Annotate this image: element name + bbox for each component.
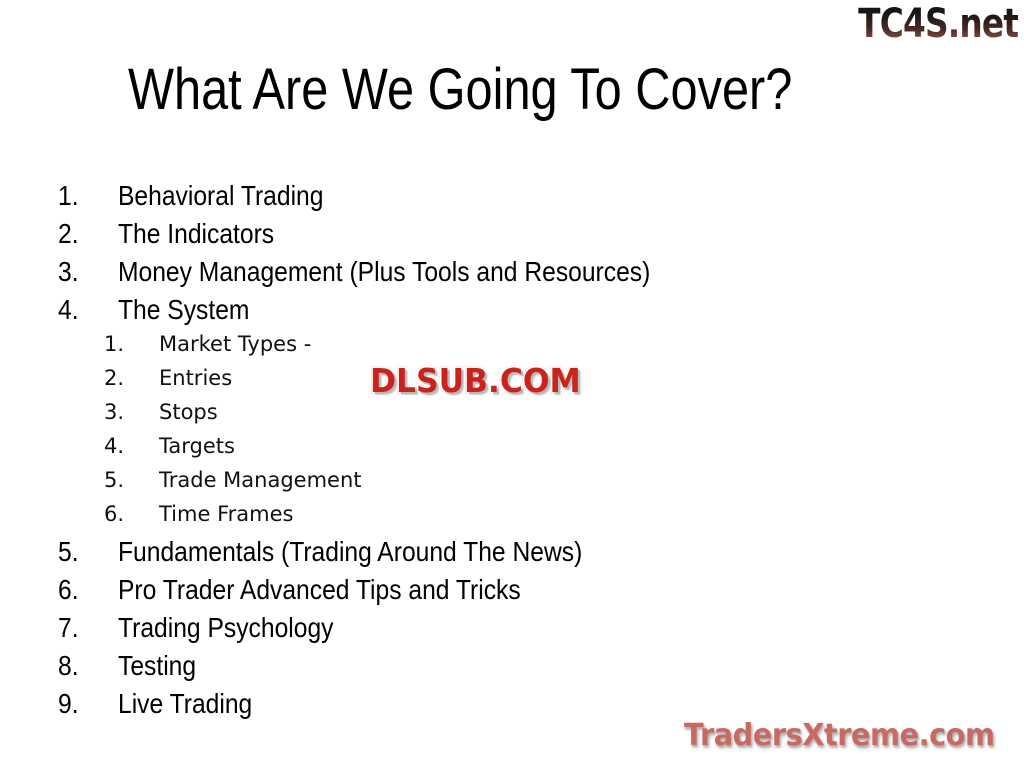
sub-list-item-label: Stops bbox=[159, 400, 218, 424]
list-item-label: Live Trading bbox=[118, 688, 252, 720]
presentation-slide: TC4S.net What Are We Going To Cover? 1. … bbox=[0, 0, 1024, 768]
list-item-number: 8. bbox=[58, 650, 111, 682]
list-item-label: Testing bbox=[118, 650, 196, 682]
sub-list-item-number: 4. bbox=[104, 434, 159, 458]
sub-list-item-number: 1. bbox=[104, 332, 159, 356]
list-item: 7. Trading Psychology bbox=[0, 612, 1024, 650]
sub-list-item: 3. Stops bbox=[0, 400, 1024, 434]
list-item-number: 2. bbox=[58, 218, 111, 250]
outline-list: 1. Behavioral Trading 2. The Indicators … bbox=[0, 180, 1024, 726]
sub-list-item: 6. Time Frames bbox=[0, 502, 1024, 536]
sub-list-item-number: 3. bbox=[104, 400, 159, 424]
list-item: 1. Behavioral Trading bbox=[0, 180, 1024, 218]
page-title: What Are We Going To Cover? bbox=[128, 57, 792, 123]
sub-list-item-label: Targets bbox=[159, 434, 235, 458]
list-item-label: Behavioral Trading bbox=[118, 180, 323, 212]
sub-list-item-number: 5. bbox=[104, 468, 159, 492]
list-item-number: 7. bbox=[58, 612, 111, 644]
tradersxtreme-watermark: TradersXtreme.com bbox=[684, 718, 995, 754]
sub-list-item: 5. Trade Management bbox=[0, 468, 1024, 502]
list-item: 8. Testing bbox=[0, 650, 1024, 688]
list-item: 5. Fundamentals (Trading Around The News… bbox=[0, 536, 1024, 574]
list-item: 4. The System bbox=[0, 294, 1024, 332]
list-item-label: The Indicators bbox=[118, 218, 274, 250]
tc4s-brand-logo: TC4S.net bbox=[858, 2, 1018, 46]
sub-list-item-number: 6. bbox=[104, 502, 159, 526]
sub-list-item-number: 2. bbox=[104, 366, 159, 390]
list-item-number: 3. bbox=[58, 256, 111, 288]
dlsub-watermark: DLSUB.COM bbox=[370, 362, 581, 400]
list-item-label: Trading Psychology bbox=[118, 612, 333, 644]
sub-list-item-label: Market Types - bbox=[159, 332, 311, 356]
list-item-label: Fundamentals (Trading Around The News) bbox=[118, 536, 582, 568]
list-item: 2. The Indicators bbox=[0, 218, 1024, 256]
list-item-label: The System bbox=[118, 294, 249, 326]
list-item-number: 6. bbox=[58, 574, 111, 606]
list-item-number: 5. bbox=[58, 536, 111, 568]
sub-list-item-label: Entries bbox=[159, 366, 232, 390]
list-item-number: 1. bbox=[58, 180, 111, 212]
list-item-number: 9. bbox=[58, 688, 111, 720]
sub-list-item: 4. Targets bbox=[0, 434, 1024, 468]
list-item-number: 4. bbox=[58, 294, 111, 326]
sub-list-item-label: Time Frames bbox=[159, 502, 293, 526]
dlsub-watermark-text: DLSUB.COM bbox=[370, 361, 581, 400]
sub-list-item-label: Trade Management bbox=[159, 468, 362, 492]
list-item-label: Pro Trader Advanced Tips and Tricks bbox=[118, 574, 521, 606]
list-item: 6. Pro Trader Advanced Tips and Tricks bbox=[0, 574, 1024, 612]
list-item: 3. Money Management (Plus Tools and Reso… bbox=[0, 256, 1024, 294]
list-item-label: Money Management (Plus Tools and Resourc… bbox=[118, 256, 650, 288]
